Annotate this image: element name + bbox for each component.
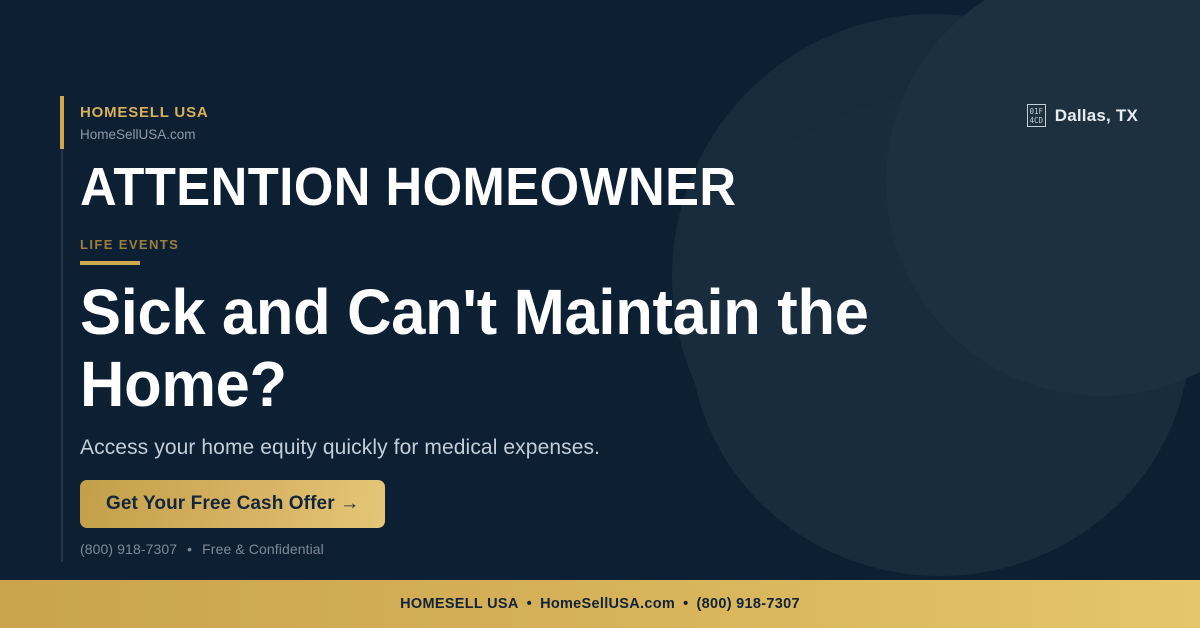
trust-note: Free & Confidential bbox=[202, 541, 324, 557]
cash-offer-cta-button[interactable]: Get Your Free Cash Offer → bbox=[80, 480, 385, 528]
location-label: Dallas, TX bbox=[1055, 106, 1138, 126]
trust-line: (800) 918-7307 • Free & Confidential bbox=[80, 541, 324, 557]
trust-phone: (800) 918-7307 bbox=[80, 541, 177, 557]
footer-brand: HOMESELL USA bbox=[400, 596, 519, 612]
trust-separator: • bbox=[181, 541, 198, 557]
page-title: Sick and Can't Maintain the Home? bbox=[80, 276, 944, 421]
brand-block: HOMESELL USA HomeSellUSA.com bbox=[80, 104, 209, 145]
subheadline: Access your home equity quickly for medi… bbox=[80, 436, 600, 460]
footer-separator-2: • bbox=[675, 596, 696, 612]
eyebrow-underline bbox=[80, 261, 140, 265]
brand-website: HomeSellUSA.com bbox=[80, 126, 209, 145]
eyebrow-label: LIFE EVENTS bbox=[80, 237, 179, 252]
attention-headline: ATTENTION HOMEOWNER bbox=[80, 158, 737, 216]
footer-bar: HOMESELL USA • HomeSellUSA.com • (800) 9… bbox=[0, 580, 1200, 628]
ad-content: HOMESELL USA HomeSellUSA.com 01F 4CD Dal… bbox=[0, 0, 1200, 580]
location-pin-icon: 01F 4CD bbox=[1027, 104, 1046, 127]
location-badge: 01F 4CD Dallas, TX bbox=[1027, 104, 1138, 127]
footer-separator-1: • bbox=[519, 596, 540, 612]
brand-name: HOMESELL USA bbox=[80, 104, 209, 123]
ad-banner: HOMESELL USA HomeSellUSA.com 01F 4CD Dal… bbox=[0, 0, 1200, 628]
footer-phone: (800) 918-7307 bbox=[697, 596, 800, 612]
footer-website: HomeSellUSA.com bbox=[540, 596, 675, 612]
tofu-codepoint-top: 01F bbox=[1029, 107, 1043, 116]
tofu-codepoint-bottom: 4CD bbox=[1029, 116, 1043, 125]
